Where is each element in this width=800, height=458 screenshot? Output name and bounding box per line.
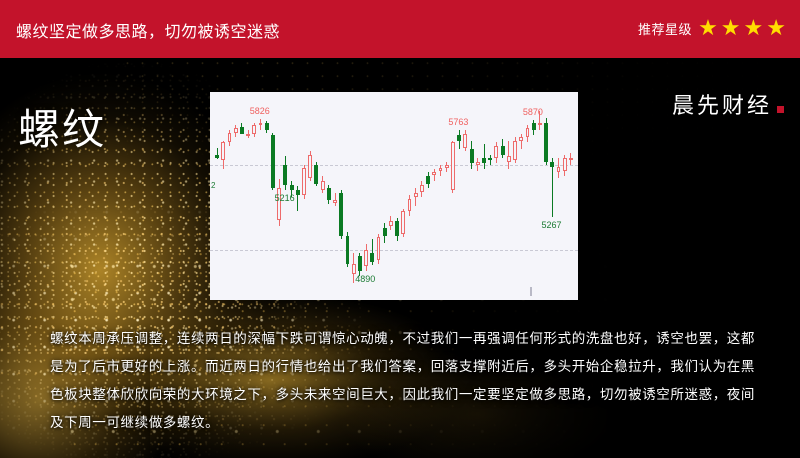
header-title: 螺纹坚定做多思路，切勿被诱空迷惑: [16, 18, 280, 42]
candle-body: [215, 155, 219, 159]
star-icon: ★: [721, 17, 741, 39]
candle-body: [302, 168, 306, 195]
chart-price-label: 5870: [523, 107, 543, 117]
candle-body: [569, 158, 573, 160]
candle-body: [370, 253, 374, 262]
candle-body: [494, 146, 498, 158]
candle-body: [463, 134, 467, 148]
candle-body: [346, 236, 350, 264]
star-icon: ★: [766, 17, 786, 39]
star-icon: ★: [698, 17, 718, 39]
candle-body: [488, 158, 492, 160]
candle-body: [252, 125, 256, 135]
candle-body: [457, 135, 461, 140]
candle-body: [550, 162, 554, 167]
candle-body: [401, 211, 405, 234]
poster-canvas: 螺纹坚定做多思路，切勿被诱空迷惑 推荐星级 ★★★★ 螺纹 晨先财经 25826…: [0, 0, 800, 458]
candle-body: [513, 141, 517, 160]
candle-body: [557, 167, 561, 172]
candle-body: [470, 149, 474, 163]
star-icon: ★: [744, 17, 764, 39]
candlestick-chart: 2582652164890576358705267: [210, 92, 578, 300]
chart-cursor-tick: [530, 287, 532, 296]
candle-body: [414, 193, 418, 197]
candle-body: [333, 200, 337, 204]
rating-stars: ★★★★: [698, 17, 786, 39]
candle-body: [482, 158, 486, 163]
chart-price-label: 5216: [275, 193, 295, 203]
candle-body: [426, 176, 430, 184]
candle-body: [389, 221, 393, 225]
candle-body: [283, 165, 287, 184]
brand-square-icon: [777, 106, 784, 113]
candle-body: [327, 188, 331, 200]
candle-body: [321, 181, 325, 190]
candle-body: [221, 142, 225, 160]
candle-body: [532, 123, 536, 130]
candle-body: [259, 123, 263, 125]
chart-price-label: 4890: [355, 274, 375, 284]
brand-logo: 晨先财经: [672, 88, 784, 120]
candle-body: [377, 237, 381, 260]
candle-body: [408, 199, 412, 211]
candle-body: [271, 135, 275, 189]
candle-body: [308, 155, 312, 178]
candle-body: [383, 228, 387, 236]
candle-body: [246, 134, 250, 136]
chart-price-label: 5826: [250, 106, 270, 116]
analysis-paragraph: 螺纹本周承压调整，连续两日的深幅下跌可谓惊心动魄，不过我们一再强调任何形式的洗盘…: [50, 325, 756, 437]
candle-wick: [440, 165, 441, 176]
chart-price-label: 5763: [448, 117, 468, 127]
rating-label: 推荐星级: [638, 19, 692, 38]
axis-left-label: 2: [211, 181, 215, 190]
candle-wick: [415, 188, 416, 206]
candle-body: [234, 128, 238, 132]
candle-body: [240, 127, 244, 133]
candle-body: [420, 185, 424, 192]
candle-body: [228, 133, 232, 143]
header-bar: 螺纹坚定做多思路，切勿被诱空迷惑 推荐星级 ★★★★: [0, 0, 800, 58]
candle-body: [507, 156, 511, 161]
candle-body: [364, 250, 368, 267]
candle-wick: [508, 141, 509, 169]
candle-wick: [521, 134, 522, 150]
candle-wick: [484, 144, 485, 169]
candle-body: [563, 158, 567, 170]
candle-body: [519, 137, 523, 141]
candle-body: [395, 221, 399, 235]
candle-body: [526, 128, 530, 137]
candle-body: [544, 123, 548, 162]
candle-body: [314, 165, 318, 183]
candle-body: [451, 142, 455, 189]
candle-wick: [434, 169, 435, 181]
candle-body: [265, 123, 269, 130]
candle-body: [439, 168, 443, 171]
commodity-title: 螺纹: [18, 96, 106, 157]
candle-body: [290, 185, 294, 190]
candle-body: [352, 264, 356, 275]
chart-gridline: [210, 165, 578, 166]
chart-price-label: 5267: [541, 220, 561, 230]
brand-name: 晨先财经: [672, 88, 772, 120]
candle-body: [476, 162, 480, 166]
rating-group: 推荐星级 ★★★★: [638, 17, 786, 39]
candle-body: [296, 190, 300, 195]
candle-body: [339, 193, 343, 235]
candle-body: [445, 165, 449, 168]
chart-gridline: [210, 250, 578, 251]
candle-body: [358, 256, 362, 271]
candle-body: [501, 146, 505, 155]
candle-body: [432, 172, 436, 175]
candle-body: [538, 123, 542, 125]
